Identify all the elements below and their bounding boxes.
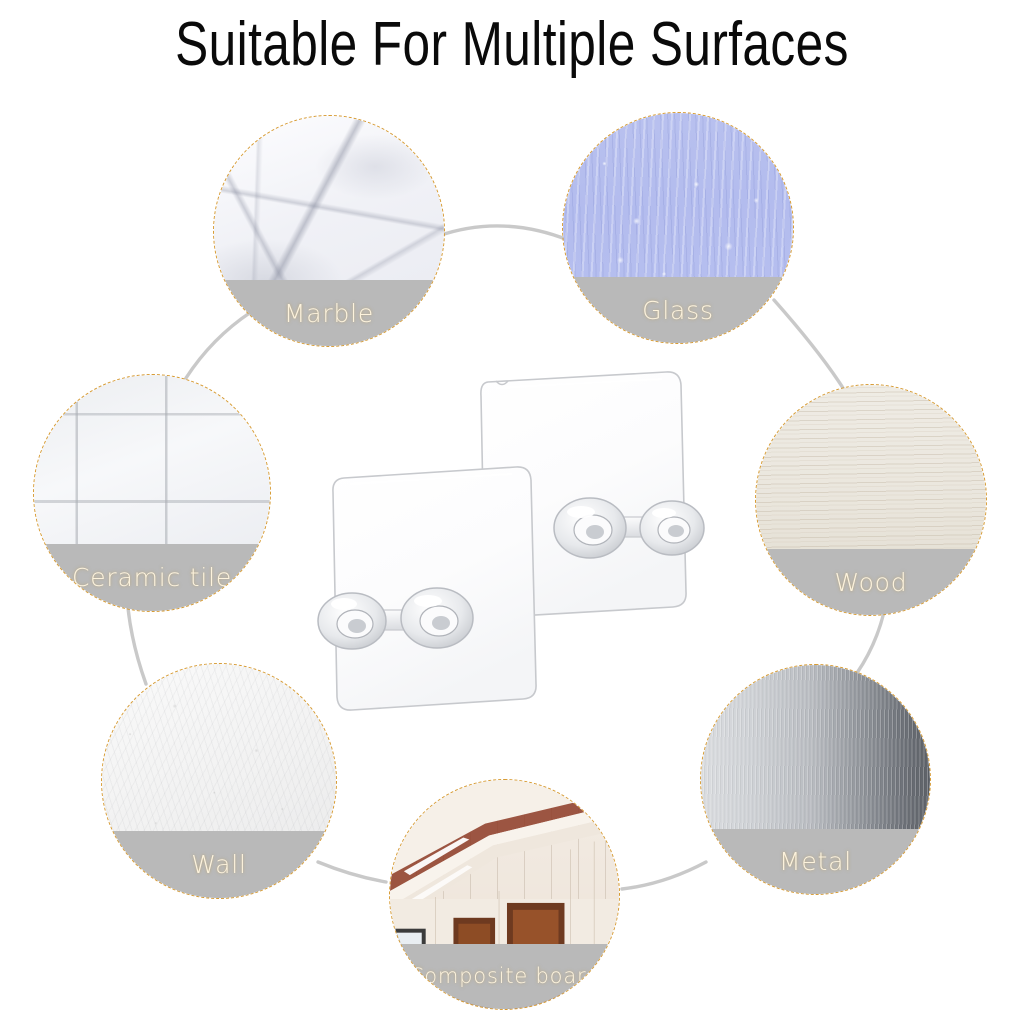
surface-label-glass: Glass bbox=[642, 296, 714, 325]
product-adhesive-wall-hooks bbox=[300, 360, 710, 720]
connector-marble-glass bbox=[438, 226, 568, 240]
page-title: Suitable For Multiple Surfaces bbox=[102, 6, 921, 84]
surface-node-composite-board[interactable]: Composite board bbox=[389, 779, 620, 1010]
connector-wall-ceramic bbox=[128, 608, 146, 684]
connector-metal-composite bbox=[622, 862, 706, 889]
surface-label-band-glass: Glass bbox=[563, 277, 793, 343]
surface-node-marble[interactable]: Marble bbox=[213, 115, 445, 347]
surface-label-band-wood: Wood bbox=[756, 549, 986, 615]
surface-node-ceramic-tile[interactable]: Ceramic tile bbox=[33, 374, 271, 612]
surface-node-wood[interactable]: Wood bbox=[755, 384, 987, 616]
surface-label-band-composite-board: Composite board bbox=[390, 944, 619, 1009]
surface-node-glass[interactable]: Glass bbox=[562, 112, 794, 344]
surface-label-marble: Marble bbox=[284, 299, 374, 328]
surface-label-wood: Wood bbox=[835, 568, 908, 597]
connector-wood-metal bbox=[857, 612, 884, 673]
infographic-canvas: Suitable For Multiple Surfaces Marble bbox=[0, 0, 1024, 1024]
surface-label-wall: Wall bbox=[191, 850, 247, 879]
surface-label-band-marble: Marble bbox=[214, 280, 444, 346]
surface-label-ceramic-tile: Ceramic tile bbox=[72, 563, 232, 592]
surface-label-band-wall: Wall bbox=[102, 831, 336, 898]
surface-node-metal[interactable]: Metal bbox=[700, 664, 931, 895]
surface-label-band-metal: Metal bbox=[701, 829, 930, 894]
surface-label-band-ceramic-tile: Ceramic tile bbox=[34, 544, 270, 611]
surface-label-metal: Metal bbox=[779, 847, 852, 876]
surface-label-composite-board: Composite board bbox=[409, 964, 600, 988]
